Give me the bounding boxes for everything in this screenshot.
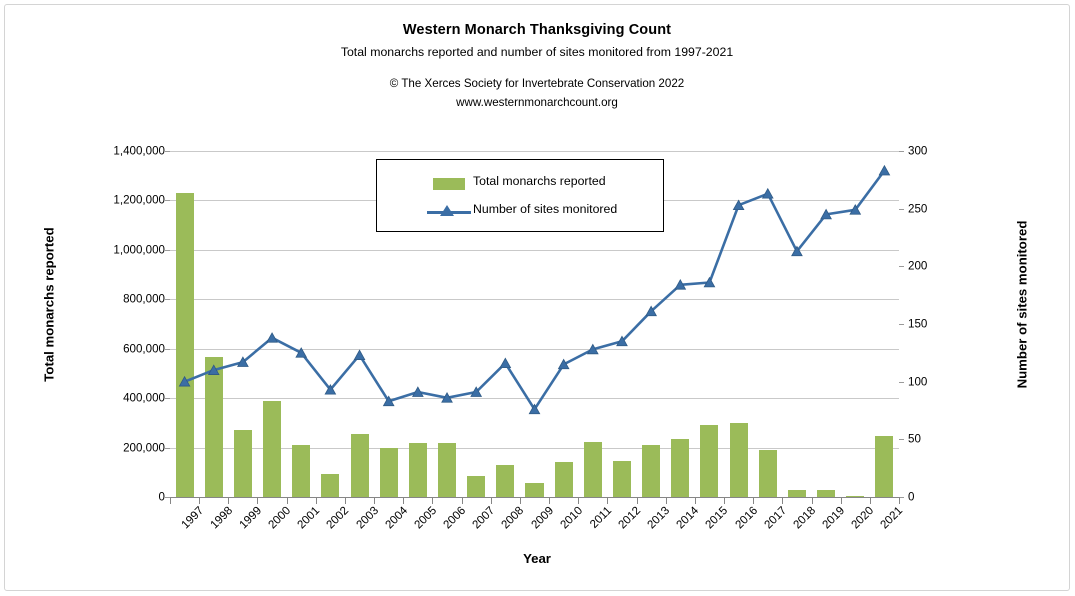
y-axis-left-tick-label: 800,000 — [79, 293, 165, 306]
line-marker — [267, 333, 277, 342]
legend: Total monarchs reported Number of sites … — [376, 159, 664, 232]
line-marker — [500, 358, 510, 367]
x-axis-tick-label: 2017 — [762, 504, 789, 531]
x-axis-tick — [812, 497, 813, 504]
legend-item-line: Number of sites monitored — [377, 200, 663, 222]
x-axis-tick-label: 2003 — [353, 504, 380, 531]
x-axis-tick — [724, 497, 725, 504]
x-axis-tick — [695, 497, 696, 504]
y-axis-right-tick-label: 50 — [908, 433, 952, 446]
line-marker — [296, 348, 306, 357]
x-axis-tick-label: 1998 — [207, 504, 234, 531]
y-axis-left-tick-label: 400,000 — [79, 392, 165, 405]
x-axis-tick-label: 2021 — [878, 504, 905, 531]
copyright-credit: © The Xerces Society for Invertebrate Co… — [5, 77, 1069, 90]
line-marker — [558, 359, 568, 368]
y-axis-tick-right — [899, 324, 904, 325]
x-axis-tick-label: 2018 — [791, 504, 818, 531]
y-axis-tick-right — [899, 266, 904, 267]
y-axis-left-labels: 1,400,0001,200,0001,000,000800,000600,00… — [71, 151, 165, 497]
x-axis-tick-label: 2008 — [499, 504, 526, 531]
x-axis-tick — [870, 497, 871, 504]
x-axis-tick-label: 1997 — [178, 504, 205, 531]
x-axis-tick-label: 2005 — [412, 504, 439, 531]
x-axis-tick-label: 2013 — [645, 504, 672, 531]
y-axis-left-tick-label: 1,000,000 — [79, 243, 165, 256]
x-axis-tick — [782, 497, 783, 504]
x-axis-tick-label: 2015 — [703, 504, 730, 531]
x-axis-tick — [199, 497, 200, 504]
x-axis-tick-label: 2000 — [266, 504, 293, 531]
y-axis-tick-right — [899, 382, 904, 383]
y-axis-right-title: Number of sites monitored — [1015, 195, 1030, 415]
legend-label-line: Number of sites monitored — [473, 202, 617, 216]
y-axis-right-labels: 300250200150100500 — [908, 151, 958, 497]
x-axis-tick-label: 1999 — [237, 504, 264, 531]
y-axis-right-tick-label: 0 — [908, 491, 952, 504]
legend-swatch-icon — [433, 178, 465, 190]
y-axis-tick-right — [899, 151, 904, 152]
x-axis-tick-label: 2014 — [674, 504, 701, 531]
x-axis-tick — [316, 497, 317, 504]
line-marker — [354, 350, 364, 359]
x-axis-tick-label: 2007 — [470, 504, 497, 531]
x-axis-title: Year — [5, 551, 1069, 566]
y-axis-right-tick-label: 300 — [908, 145, 952, 158]
legend-label-bars: Total monarchs reported — [473, 174, 606, 188]
x-axis-tick-label: 2001 — [295, 504, 322, 531]
x-axis-tick-label: 2011 — [587, 504, 614, 531]
x-axis-tick — [257, 497, 258, 504]
y-axis-right-tick-label: 200 — [908, 260, 952, 273]
x-axis-tick — [549, 497, 550, 504]
x-axis-tick — [462, 497, 463, 504]
x-axis-tick-label: 2009 — [528, 504, 555, 531]
y-axis-left-tick-label: 1,400,000 — [79, 145, 165, 158]
website-url: www.westernmonarchcount.org — [5, 96, 1069, 109]
legend-triangle-marker-icon — [440, 205, 454, 216]
x-axis-tick — [578, 497, 579, 504]
x-axis-tick — [287, 497, 288, 504]
x-axis-tick-label: 2010 — [557, 504, 584, 531]
y-axis-right-tick-label: 100 — [908, 375, 952, 388]
y-axis-left-tick-label: 0 — [79, 491, 165, 504]
chart-page: Western Monarch Thanksgiving Count Total… — [0, 0, 1075, 596]
x-axis-tick — [841, 497, 842, 504]
y-axis-left-title: Total monarchs reported — [42, 195, 57, 415]
x-axis-tick-label: 2016 — [732, 504, 759, 531]
y-axis-right-tick-label: 150 — [908, 318, 952, 331]
x-axis-tick — [345, 497, 346, 504]
y-axis-left-tick-label: 200,000 — [79, 441, 165, 454]
y-axis-left-tick-label: 1,200,000 — [79, 194, 165, 207]
x-axis-tick — [753, 497, 754, 504]
x-axis-tick — [170, 497, 171, 504]
x-axis-tick — [491, 497, 492, 504]
x-axis-tick-label: 2004 — [382, 504, 409, 531]
x-axis-tick — [666, 497, 667, 504]
y-axis-right-tick-label: 250 — [908, 202, 952, 215]
chart-frame: Western Monarch Thanksgiving Count Total… — [4, 4, 1070, 591]
x-axis-tick-label: 2020 — [849, 504, 876, 531]
x-axis-tick-label: 2006 — [441, 504, 468, 531]
x-axis-tick — [520, 497, 521, 504]
line-marker — [879, 166, 889, 175]
x-axis-labels: 1997199819992000200120022003200420052006… — [170, 504, 899, 550]
x-axis-tick — [899, 497, 900, 504]
x-axis-tick-label: 2012 — [616, 504, 643, 531]
x-axis-tick-label: 2002 — [324, 504, 351, 531]
y-axis-tick-right — [899, 209, 904, 210]
x-axis-tick — [607, 497, 608, 504]
chart-subtitle: Total monarchs reported and number of si… — [5, 45, 1069, 59]
x-axis-tick — [403, 497, 404, 504]
x-axis-tick — [432, 497, 433, 504]
x-axis-tick-label: 2019 — [820, 504, 847, 531]
page-title: Western Monarch Thanksgiving Count — [5, 22, 1069, 38]
x-axis-tick — [637, 497, 638, 504]
y-axis-tick-right — [899, 439, 904, 440]
x-axis-tick — [228, 497, 229, 504]
x-axis-tick — [374, 497, 375, 504]
y-axis-left-tick-label: 600,000 — [79, 342, 165, 355]
line-marker — [763, 189, 773, 198]
legend-item-bars: Total monarchs reported — [377, 172, 663, 194]
